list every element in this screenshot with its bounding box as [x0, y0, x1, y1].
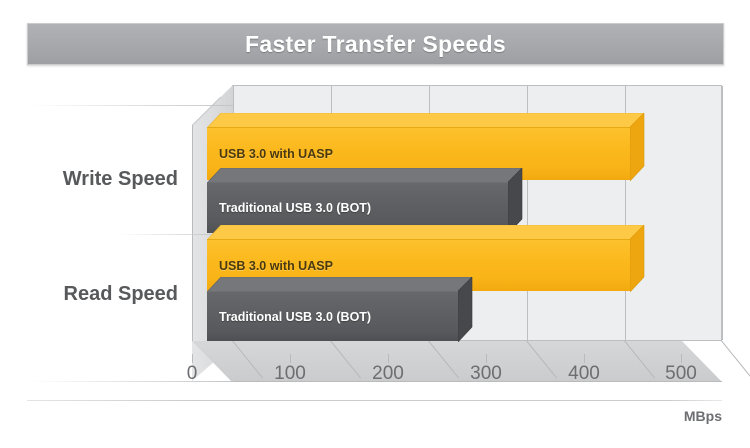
- axis-tick-label-400: 400: [554, 363, 614, 385]
- wall-top-edge: [232, 85, 722, 86]
- axis-unit-label: MBps: [684, 408, 722, 424]
- bar-read-bot: Traditional USB 3.0 (BOT): [207, 291, 458, 341]
- bar-top-face: [207, 225, 644, 240]
- gridline-500: [722, 86, 723, 340]
- axis-tick-label-100: 100: [260, 363, 320, 385]
- side-wall-edge: [192, 125, 193, 341]
- axis-tick-200: [388, 354, 389, 363]
- category-separator-top: [28, 105, 233, 106]
- axis-tick-500: [681, 354, 682, 363]
- axis-tick-label-0: 0: [162, 363, 222, 385]
- bar-side-face: [458, 277, 473, 342]
- axis-tick-label-300: 300: [456, 363, 516, 385]
- bar-side-face: [630, 225, 645, 292]
- category-label-read-speed: Read Speed: [64, 283, 178, 306]
- bar-label-write-uasp: USB 3.0 with UASP: [207, 147, 333, 161]
- axis-tick-100: [290, 354, 291, 363]
- floor-depth-line-500: [721, 340, 750, 378]
- plot-area: USB 3.0 with UASP Traditional USB 3.0 (B…: [0, 0, 750, 448]
- axis-baseline: [27, 400, 722, 401]
- bar-side-face: [630, 113, 645, 181]
- bar-label-write-bot: Traditional USB 3.0 (BOT): [207, 201, 371, 215]
- axis-tick-0: [192, 354, 193, 363]
- bar-top-face: [207, 113, 644, 128]
- bar-label-read-uasp: USB 3.0 with UASP: [207, 259, 333, 273]
- category-label-write-speed: Write Speed: [63, 168, 178, 191]
- axis-tick-label-200: 200: [358, 363, 418, 385]
- bar-label-read-bot: Traditional USB 3.0 (BOT): [207, 310, 371, 324]
- axis-tick-label-500: 500: [651, 363, 711, 385]
- axis-tick-400: [584, 354, 585, 363]
- axis-tick-300: [486, 354, 487, 363]
- bar-front-face: Traditional USB 3.0 (BOT): [207, 291, 458, 341]
- chart-screenshot: Faster Transfer Speeds: [0, 0, 750, 448]
- bar-top-face: [207, 168, 522, 183]
- bar-top-face: [207, 277, 472, 292]
